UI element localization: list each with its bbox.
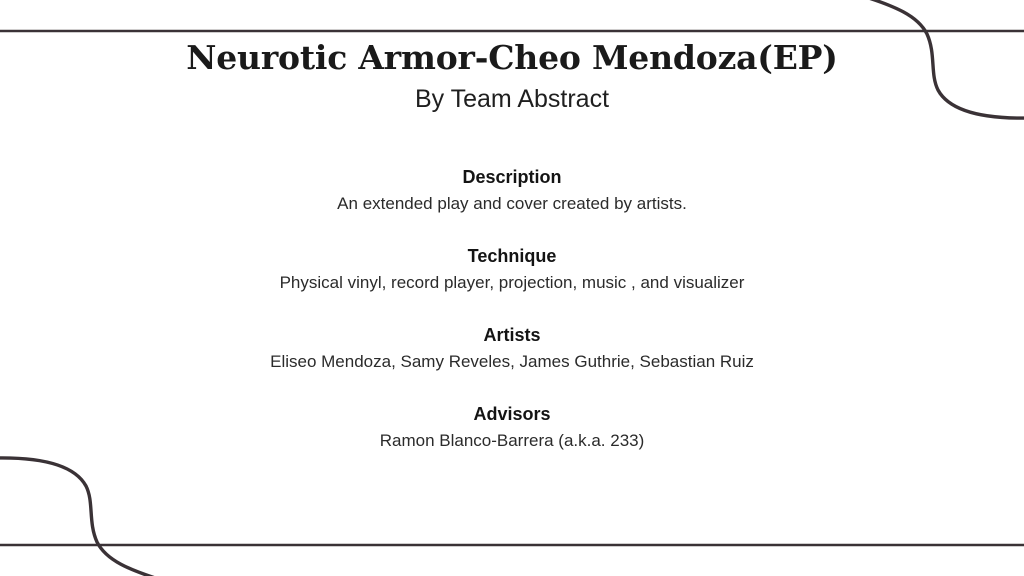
section-heading: Description bbox=[0, 165, 1024, 189]
section-description: Description An extended play and cover c… bbox=[0, 165, 1024, 216]
page-title: Neurotic Armor-Cheo Mendoza(EP) bbox=[0, 38, 1024, 78]
section-heading: Technique bbox=[0, 244, 1024, 268]
page-subtitle: By Team Abstract bbox=[0, 83, 1024, 115]
section-body: Physical vinyl, record player, projectio… bbox=[0, 271, 1024, 295]
section-body: An extended play and cover created by ar… bbox=[0, 192, 1024, 216]
section-technique: Technique Physical vinyl, record player,… bbox=[0, 244, 1024, 295]
section-body: Eliseo Mendoza, Samy Reveles, James Guth… bbox=[0, 350, 1024, 374]
section-heading: Artists bbox=[0, 323, 1024, 347]
bottom-left-s-curve bbox=[0, 458, 168, 576]
slide-header: Neurotic Armor-Cheo Mendoza(EP) By Team … bbox=[0, 38, 1024, 115]
section-body: Ramon Blanco-Barrera (a.k.a. 233) bbox=[0, 429, 1024, 453]
presentation-slide: Neurotic Armor-Cheo Mendoza(EP) By Team … bbox=[0, 0, 1024, 576]
slide-sections: Description An extended play and cover c… bbox=[0, 165, 1024, 453]
section-artists: Artists Eliseo Mendoza, Samy Reveles, Ja… bbox=[0, 323, 1024, 374]
section-heading: Advisors bbox=[0, 402, 1024, 426]
section-advisors: Advisors Ramon Blanco-Barrera (a.k.a. 23… bbox=[0, 402, 1024, 453]
